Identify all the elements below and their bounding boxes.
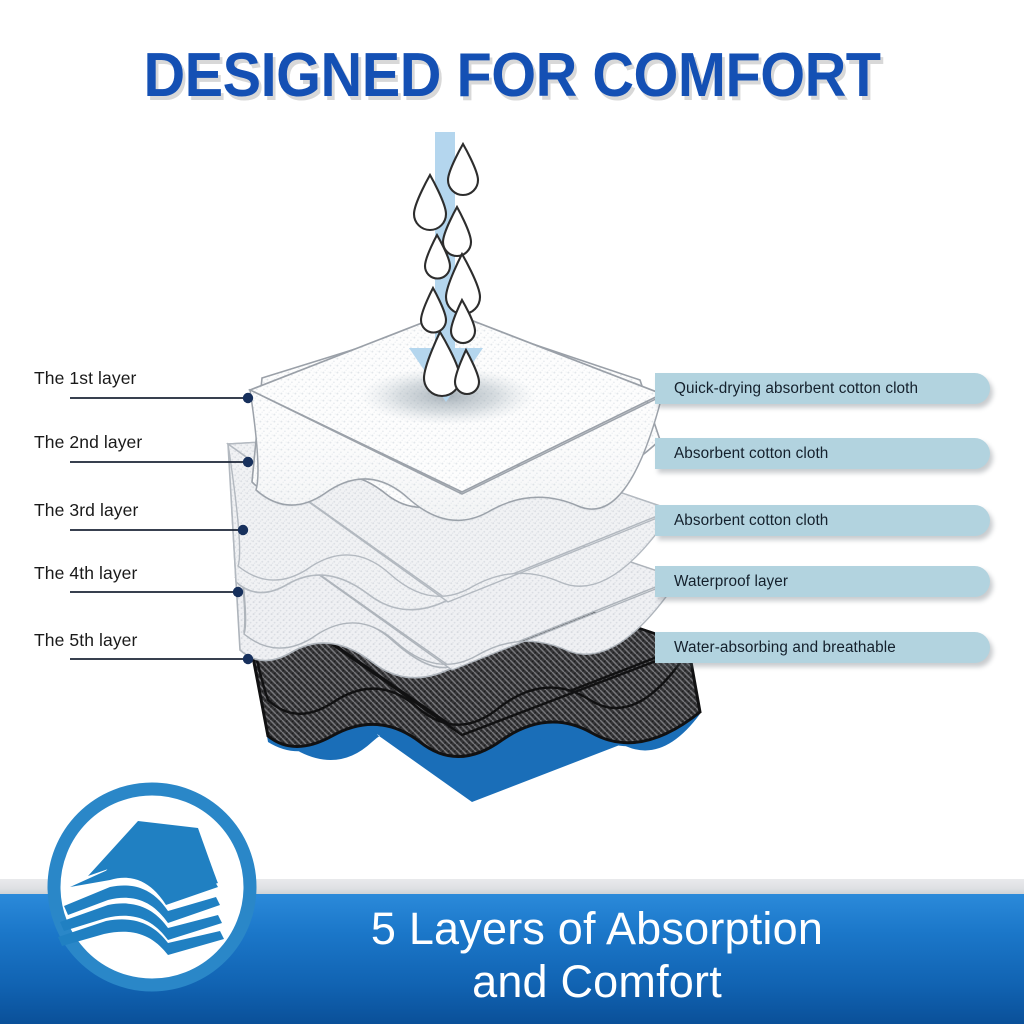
banner-line-1: 5 Layers of Absorption bbox=[371, 903, 823, 954]
callout-layer-1[interactable]: Quick-drying absorbent cotton cloth bbox=[655, 373, 990, 404]
left-label-layer-4: The 4th layer bbox=[34, 563, 137, 584]
callout-layer-2[interactable]: Absorbent cotton cloth bbox=[655, 438, 990, 469]
left-label-layer-2: The 2nd layer bbox=[34, 432, 142, 453]
callout-layer-1-label: Quick-drying absorbent cotton cloth bbox=[655, 380, 918, 398]
left-label-layer-1: The 1st layer bbox=[34, 368, 136, 389]
banner-text: 5 Layers of Absorption and Comfort bbox=[170, 902, 1024, 1008]
infographic-canvas: DESIGNED FOR COMFORT bbox=[0, 0, 1024, 1024]
callout-layer-4[interactable]: Waterproof layer bbox=[655, 566, 990, 597]
callout-layer-5-label: Water-absorbing and breathable bbox=[655, 639, 896, 657]
callout-layer-5[interactable]: Water-absorbing and breathable bbox=[655, 632, 990, 663]
callout-layer-4-label: Waterproof layer bbox=[655, 573, 788, 591]
callout-layer-3-label: Absorbent cotton cloth bbox=[655, 512, 828, 530]
banner-line-2: and Comfort bbox=[170, 955, 1024, 1008]
left-label-layer-5: The 5th layer bbox=[34, 630, 137, 651]
left-label-layer-3: The 3rd layer bbox=[34, 500, 138, 521]
callout-layer-2-label: Absorbent cotton cloth bbox=[655, 445, 828, 463]
stacked-sheets-badge bbox=[46, 781, 258, 993]
callout-layer-3[interactable]: Absorbent cotton cloth bbox=[655, 505, 990, 536]
